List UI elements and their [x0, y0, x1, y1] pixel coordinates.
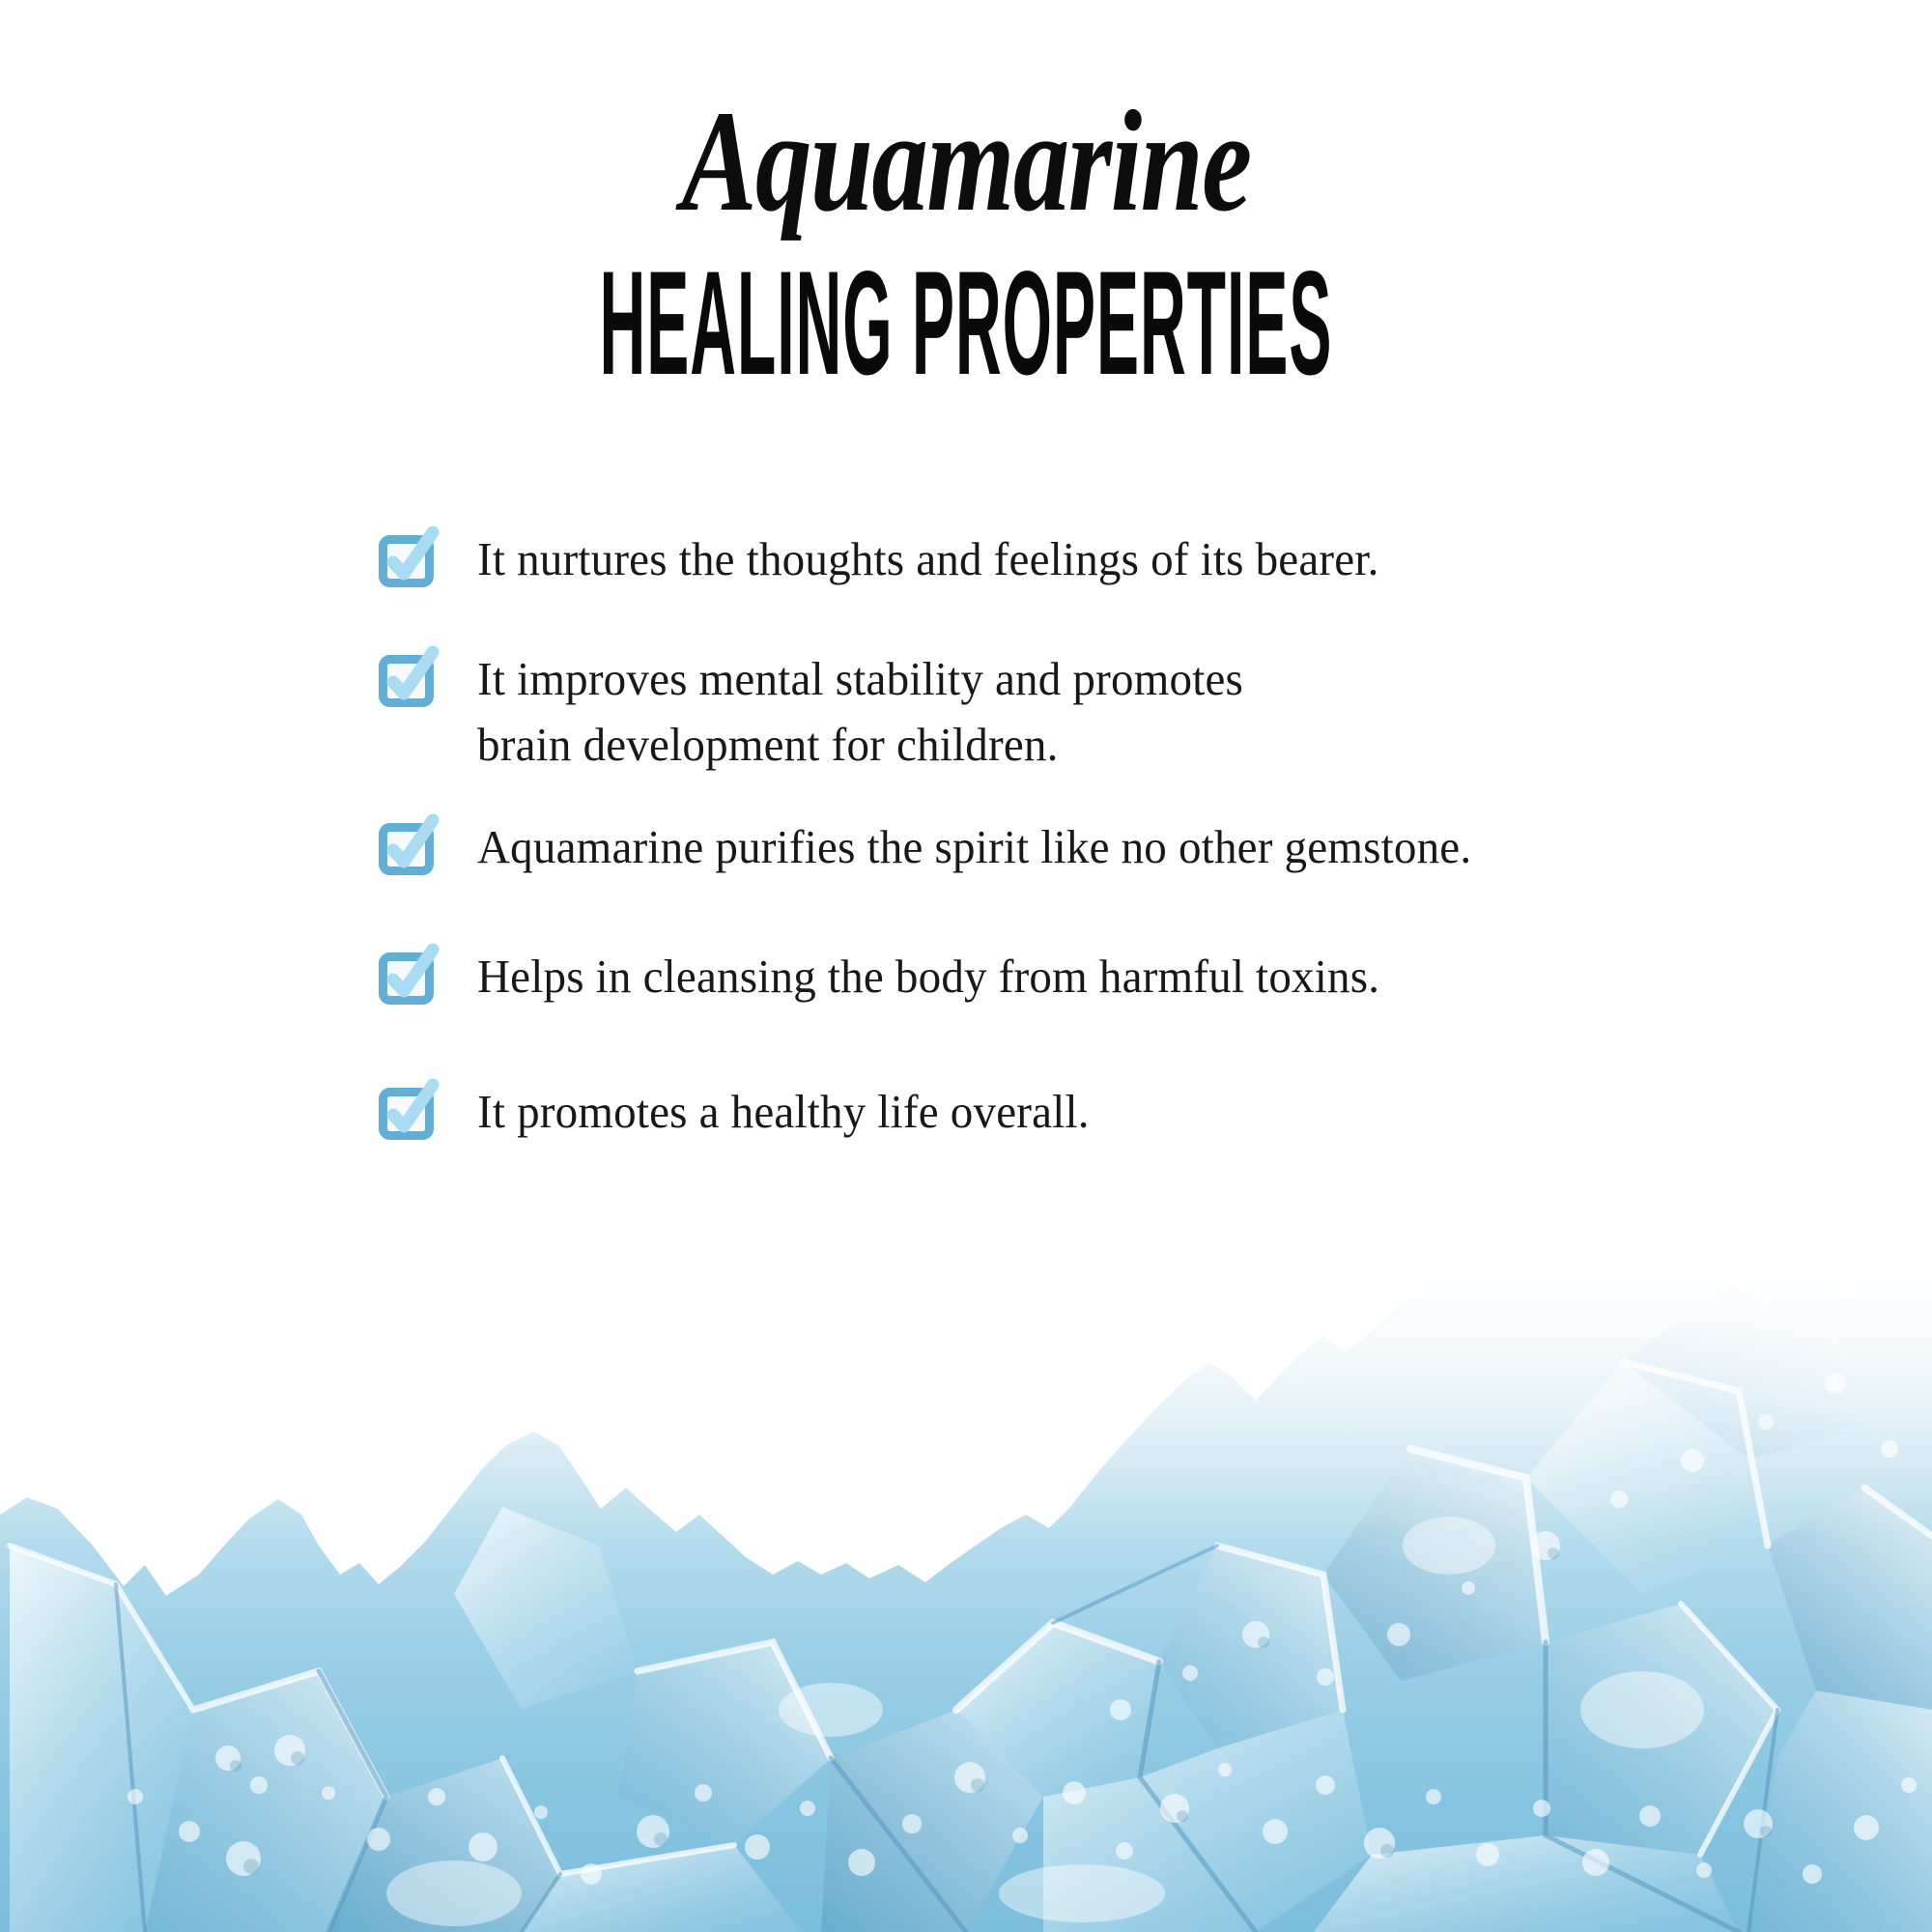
- page-title: Aquamarine: [213, 0, 1719, 234]
- page-header: Aquamarine HEALING PROPERTIES: [0, 0, 1932, 375]
- list-item[interactable]: Aquamarine purifies the spirit like no o…: [379, 814, 1513, 880]
- checked-checkbox-icon[interactable]: [379, 818, 439, 878]
- checked-checkbox-icon[interactable]: [379, 948, 439, 1008]
- list-item-label: It nurtures the thoughts and feelings of…: [477, 526, 1379, 592]
- list-item[interactable]: It nurtures the thoughts and feelings of…: [379, 526, 1416, 592]
- list-item-label: It improves mental stability and promote…: [477, 646, 1243, 778]
- list-item-label: Aquamarine purifies the spirit like no o…: [477, 814, 1471, 880]
- checked-checkbox-icon[interactable]: [379, 650, 439, 710]
- list-item-label: It promotes a healthy life overall.: [477, 1079, 1090, 1145]
- list-item[interactable]: It improves mental stability and promote…: [379, 646, 1275, 778]
- checked-checkbox-icon[interactable]: [379, 1083, 439, 1143]
- list-item[interactable]: Helps in cleansing the body from harmful…: [379, 944, 1417, 1009]
- page-subtitle: HEALING PROPERTIES: [483, 234, 1449, 397]
- ice-cubes-photo: [0, 1256, 1932, 1932]
- list-item[interactable]: It promotes a healthy life overall.: [379, 1079, 1115, 1145]
- checked-checkbox-icon[interactable]: [379, 530, 439, 590]
- list-item-label: Helps in cleansing the body from harmful…: [477, 944, 1379, 1009]
